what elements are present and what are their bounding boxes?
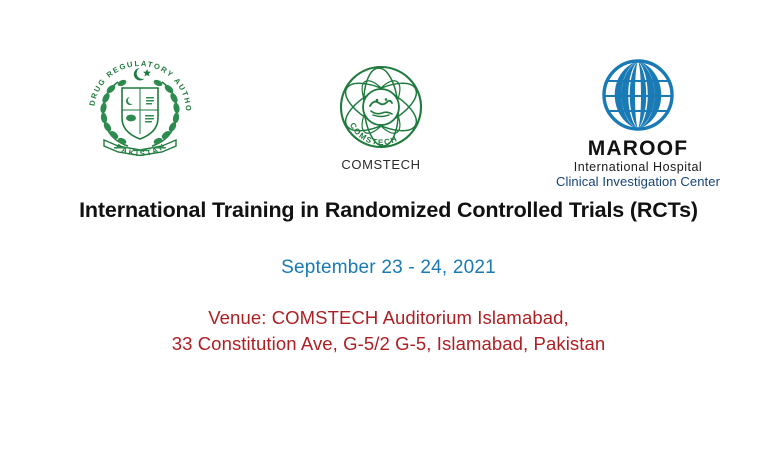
globe-icon	[552, 58, 724, 132]
maroof-subtitle: International Hospital	[552, 160, 724, 174]
drap-emblem-icon: DRUG REGULATORY AUTHORITY OF PAKISTAN	[78, 52, 202, 156]
logo-maroof: MAROOF International Hospital Clinical I…	[552, 58, 724, 190]
event-venue: Venue: COMSTECH Auditorium Islamabad, 33…	[0, 280, 777, 358]
event-banner: DRUG REGULATORY AUTHORITY OF PAKISTAN	[0, 0, 777, 470]
venue-line-1: Venue: COMSTECH Auditorium Islamabad,	[0, 305, 777, 331]
comstech-emblem-icon: COMSTECH	[320, 62, 442, 150]
event-text-block: International Training in Randomized Con…	[0, 188, 777, 357]
logo-comstech: COMSTECH COMSTECH	[320, 62, 442, 172]
comstech-caption: COMSTECH	[320, 157, 442, 172]
logo-strip: DRUG REGULATORY AUTHORITY OF PAKISTAN	[0, 0, 777, 188]
venue-line-2: 33 Constitution Ave, G-5/2 G-5, Islamaba…	[0, 331, 777, 357]
logo-drap: DRUG REGULATORY AUTHORITY OF PAKISTAN	[78, 52, 202, 161]
event-title: International Training in Randomized Con…	[0, 188, 777, 224]
svg-text:COMSTECH: COMSTECH	[348, 121, 400, 147]
maroof-title: MAROOF	[552, 138, 724, 160]
event-dates: September 23 - 24, 2021	[0, 224, 777, 280]
